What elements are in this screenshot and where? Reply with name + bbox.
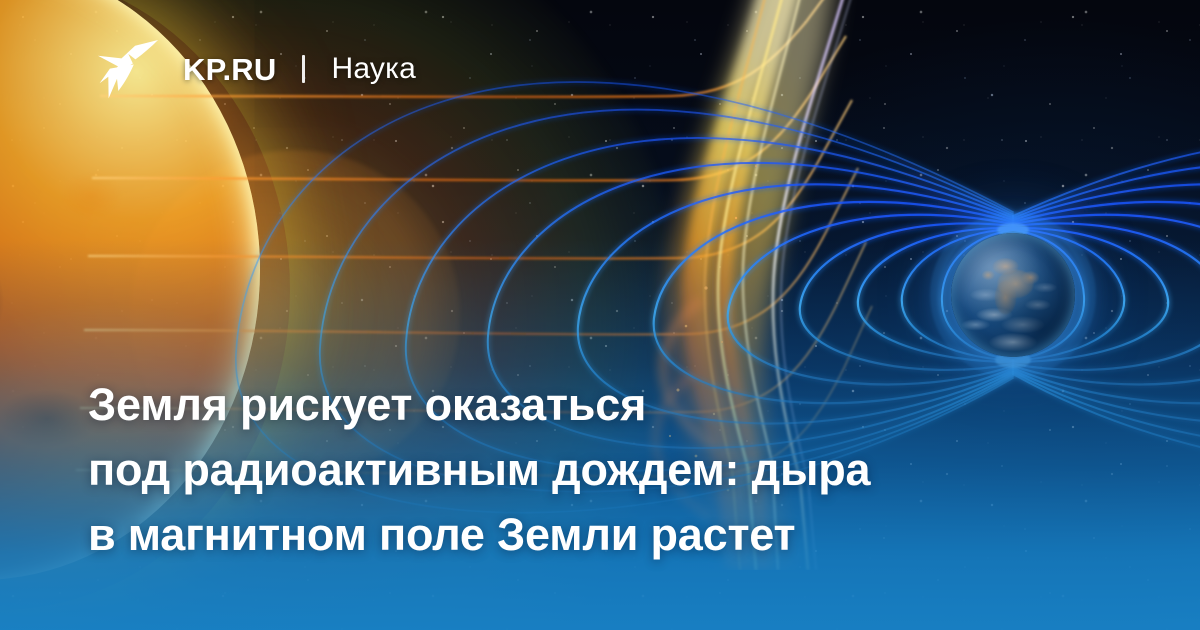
brand-name: KP.RU <box>183 54 276 85</box>
header: KP.RU Наука <box>0 0 1200 140</box>
headline-line-1: Земля рискует оказаться <box>88 372 1140 437</box>
headline-line-2: под радиоактивным дождем: дыра <box>88 437 1140 502</box>
brand-separator <box>302 55 305 83</box>
earth-atmosphere-rim <box>951 233 1075 357</box>
swallow-bird-logo-icon[interactable] <box>95 38 161 100</box>
brand-lockup[interactable]: KP.RU Наука <box>95 38 416 100</box>
earth-globe <box>951 233 1075 357</box>
headline: Земля рискует оказаться под радиоактивны… <box>88 372 1140 567</box>
section-name: Наука <box>331 54 415 84</box>
headline-line-3: в магнитном поле Земли растет <box>88 502 1140 567</box>
share-card: KP.RU Наука Земля рискует оказаться под … <box>0 0 1200 630</box>
